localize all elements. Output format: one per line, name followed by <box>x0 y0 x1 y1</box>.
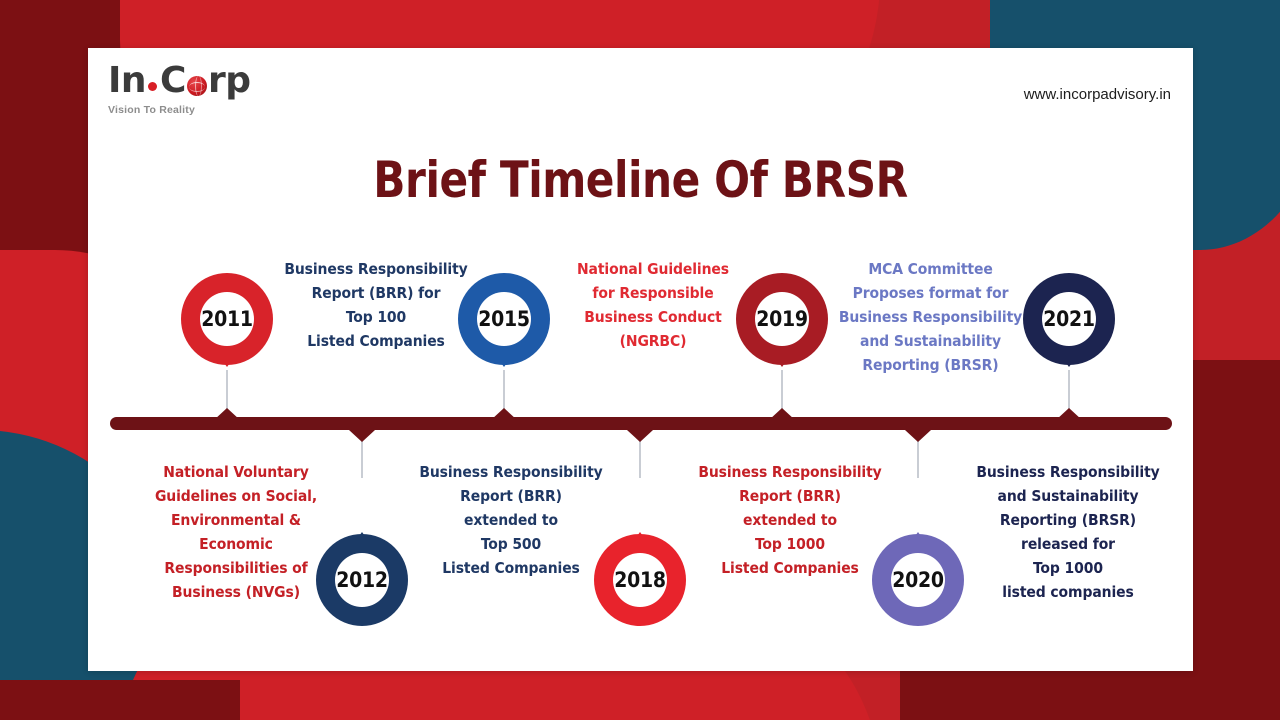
label-2012: National VoluntaryGuidelines on Social,E… <box>141 460 331 604</box>
infographic-canvas: In C rp Vision To Reality www.incorpadvi… <box>0 0 1280 720</box>
brand-logo[interactable]: In C rp Vision To Reality <box>108 63 348 116</box>
label-line: Responsibilities of <box>141 556 331 580</box>
pin-year-2011: 2011 <box>201 307 252 331</box>
logo-text-rp: rp <box>208 63 251 99</box>
logo-tagline: Vision To Reality <box>108 104 348 116</box>
label-line: MCA Committee <box>828 257 1033 281</box>
label-2021: Business Responsibilityand Sustainabilit… <box>968 460 1168 604</box>
label-line: Proposes format for <box>828 281 1033 305</box>
timeline-marker-2019 <box>769 408 795 420</box>
content-card: In C rp Vision To Reality www.incorpadvi… <box>88 48 1193 671</box>
label-line: Reporting (BRSR) <box>968 508 1168 532</box>
label-line: for Responsible <box>556 281 750 305</box>
pin-hole-2015: 2015 <box>477 292 531 346</box>
label-line: Reporting (BRSR) <box>828 353 1033 377</box>
label-line: Business Conduct <box>556 305 750 329</box>
bg-shape-maroon-bottom-left-strip <box>0 680 240 720</box>
label-line: Business Responsibility <box>411 460 611 484</box>
label-line: National Voluntary <box>141 460 331 484</box>
pin-ring-2021: 2021 <box>1023 273 1115 365</box>
label-2015: National Guidelinesfor ResponsibleBusine… <box>556 257 750 353</box>
label-line: (NGRBC) <box>556 329 750 353</box>
label-line: Top 100 <box>278 305 474 329</box>
pin-hole-2020: 2020 <box>891 553 945 607</box>
page-title: Brief Timeline Of BRSR <box>121 151 1160 209</box>
timeline-bar <box>110 417 1172 430</box>
label-line: Business Responsibility <box>828 305 1033 329</box>
label-line: Economic <box>141 532 331 556</box>
logo-dot-icon <box>148 82 157 91</box>
label-line: Business Responsibility <box>968 460 1168 484</box>
label-2018: Business ResponsibilityReport (BRR)exten… <box>411 460 611 580</box>
timeline-marker-2011 <box>214 408 240 420</box>
label-line: Listed Companies <box>278 329 474 353</box>
label-line: Report (BRR) <box>411 484 611 508</box>
timeline-pin-2011[interactable]: 2011 <box>181 273 273 365</box>
label-line: Listed Companies <box>411 556 611 580</box>
label-line: Top 1000 <box>690 532 890 556</box>
logo-wordmark: In C rp <box>108 63 348 99</box>
pin-year-2018: 2018 <box>614 568 665 592</box>
pin-hole-2021: 2021 <box>1042 292 1096 346</box>
pin-year-2015: 2015 <box>478 307 529 331</box>
label-line: Business Responsibility <box>690 460 890 484</box>
timeline-marker-2021 <box>1056 408 1082 420</box>
label-2019: MCA CommitteeProposes format forBusiness… <box>828 257 1033 377</box>
label-2020: Business ResponsibilityReport (BRR)exten… <box>690 460 890 580</box>
label-line: and Sustainability <box>968 484 1168 508</box>
label-line: Environmental & <box>141 508 331 532</box>
label-line: extended to <box>411 508 611 532</box>
label-2011: Business ResponsibilityReport (BRR) forT… <box>278 257 474 353</box>
website-url[interactable]: www.incorpadvisory.in <box>1024 86 1171 103</box>
label-line: and Sustainability <box>828 329 1033 353</box>
label-line: released for <box>968 532 1168 556</box>
pin-hole-2012: 2012 <box>335 553 389 607</box>
globe-icon <box>187 76 207 96</box>
label-line: Business (NVGs) <box>141 580 331 604</box>
label-line: extended to <box>690 508 890 532</box>
timeline-marker-2012 <box>349 430 375 442</box>
pin-year-2021: 2021 <box>1043 307 1094 331</box>
label-line: Guidelines on Social, <box>141 484 331 508</box>
label-line: Report (BRR) <box>690 484 890 508</box>
timeline-pin-2021[interactable]: 2021 <box>1023 273 1115 365</box>
logo-text-c: C <box>160 63 186 99</box>
pin-year-2020: 2020 <box>892 568 943 592</box>
label-line: Top 500 <box>411 532 611 556</box>
label-line: listed companies <box>968 580 1168 604</box>
label-line: Listed Companies <box>690 556 890 580</box>
pin-year-2019: 2019 <box>756 307 807 331</box>
pin-hole-2019: 2019 <box>755 292 809 346</box>
pin-hole-2011: 2011 <box>200 292 254 346</box>
pin-ring-2011: 2011 <box>181 273 273 365</box>
timeline-marker-2015 <box>491 408 517 420</box>
timeline-marker-2018 <box>627 430 653 442</box>
label-line: Top 1000 <box>968 556 1168 580</box>
pin-hole-2018: 2018 <box>613 553 667 607</box>
pin-year-2012: 2012 <box>336 568 387 592</box>
timeline-marker-2020 <box>905 430 931 442</box>
label-line: National Guidelines <box>556 257 750 281</box>
logo-text-in: In <box>108 63 146 99</box>
label-line: Report (BRR) for <box>278 281 474 305</box>
label-line: Business Responsibility <box>278 257 474 281</box>
